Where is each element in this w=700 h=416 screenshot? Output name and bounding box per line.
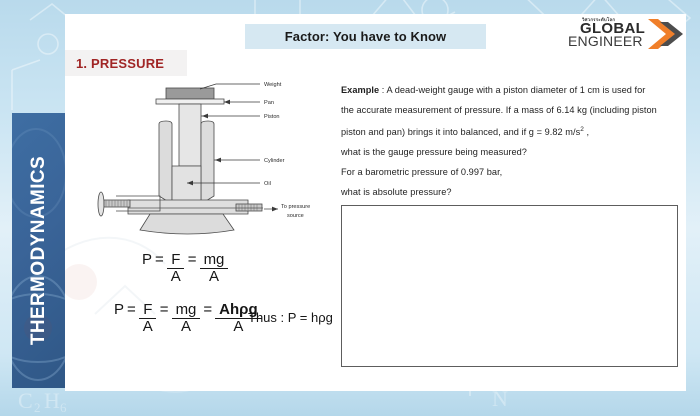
example-line-6: what is absolute pressure?: [341, 182, 676, 202]
logo-line-engineer: ENGINEER: [568, 34, 643, 48]
eq2-fraction-mg-a: mg A: [172, 302, 201, 335]
example-line-1: Example : A dead-weight gauge with a pis…: [341, 80, 676, 100]
sidebar-thermodynamics: THERMODYNAMICS: [12, 113, 65, 388]
example-label: Example: [341, 85, 379, 95]
formula-conclusion: Thus : P = hρg: [248, 310, 333, 325]
title-banner: Factor: You have to Know: [245, 24, 486, 49]
eq2-fraction-f-a: F A: [139, 302, 157, 335]
diagram-label-pan: Pan: [264, 100, 274, 106]
diagram-label-piston: Piston: [264, 114, 280, 120]
example-line-3: piston and pan) brings it into balanced,…: [341, 120, 676, 142]
eq2-equals-1: =: [125, 302, 138, 318]
eq1-mg-numerator: mg: [200, 252, 229, 269]
example-line-4: what is the gauge pressure being measure…: [341, 142, 676, 162]
example-line-3-tail: ,: [584, 127, 589, 137]
eq1-equals-2: =: [186, 252, 199, 268]
formula-equation-1: P = F A = mg A: [142, 252, 229, 285]
formula-area: P = F A = mg A P = F A = mg A =: [100, 252, 350, 352]
page-title: Factor: You have to Know: [285, 29, 447, 44]
eq1-fraction-f-a: F A: [167, 252, 185, 285]
brand-logo: วิศวกรระดับโลก GLOBAL ENGINEER: [568, 16, 686, 54]
diagram-label-cylinder: Cylinder: [264, 158, 285, 164]
example-line-2: the accurate measurement of pressure. If…: [341, 100, 676, 120]
eq2-p: P: [114, 302, 125, 318]
section-heading: 1. PRESSURE: [76, 56, 164, 71]
eq2-equals-3: =: [201, 302, 214, 318]
svg-text:H: H: [44, 388, 60, 413]
dead-weight-gauge-diagram: Weight Pan Piston Cylinder Oil To pressu…: [88, 78, 323, 248]
formula-equation-2: P = F A = mg A = Ahρg A: [114, 302, 263, 335]
example-line-5: For a barometric pressure of 0.997 bar,: [341, 162, 676, 182]
eq1-equals-1: =: [153, 252, 166, 268]
eq2-ahpg-denominator: A: [229, 319, 247, 335]
eq1-f-denominator: A: [167, 269, 185, 285]
eq2-f-denominator: A: [139, 319, 157, 335]
example-line-1-rest: : A dead-weight gauge with a piston diam…: [379, 85, 645, 95]
svg-text:C: C: [18, 388, 33, 413]
diagram-label-oil: Oil: [264, 181, 271, 187]
svg-text:2: 2: [34, 400, 41, 415]
eq2-mg-numerator: mg: [172, 302, 201, 319]
eq2-f-numerator: F: [139, 302, 156, 319]
example-line-3-rest: piston and pan) brings it into balanced,…: [341, 127, 580, 137]
slide-stage: C 2 H 6 N Factor: You have to Know วิศวก…: [0, 0, 700, 416]
eq2-mg-denominator: A: [177, 319, 195, 335]
eq2-equals-2: =: [158, 302, 171, 318]
svg-text:6: 6: [60, 400, 67, 415]
eq1-f-numerator: F: [167, 252, 184, 269]
eq1-fraction-mg-a: mg A: [200, 252, 229, 285]
eq1-p: P: [142, 252, 153, 268]
sidebar-label: THERMODYNAMICS: [12, 113, 65, 388]
diagram-label-pressure-source-line1: To pressure: [281, 204, 310, 210]
diagram-label-weight: Weight: [264, 82, 282, 88]
chevron-arrow-icon: [646, 18, 686, 52]
diagram-label-pressure-source-line2: source: [287, 213, 304, 219]
answer-box[interactable]: [341, 205, 678, 367]
example-text-block: Example : A dead-weight gauge with a pis…: [341, 80, 676, 202]
eq1-mg-denominator: A: [205, 269, 223, 285]
